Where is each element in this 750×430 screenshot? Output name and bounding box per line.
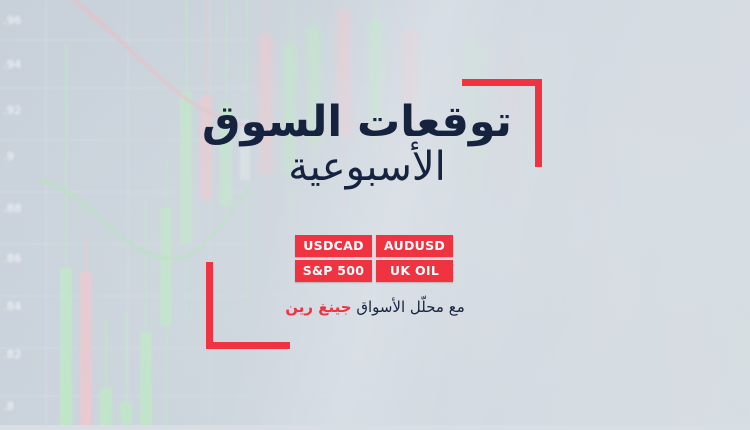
background-sheen	[0, 0, 750, 430]
bottom-left-bracket-horizontal	[206, 342, 290, 349]
analyst-name: جينغ رين	[285, 298, 351, 316]
bottom-edge-bar	[0, 425, 750, 430]
headline-block: توقعات السوق الأسبوعية	[0, 98, 750, 190]
axis-tick-5: .86	[3, 252, 22, 265]
analyst-credit: مع محلّل الأسواق جينغ رين	[0, 297, 750, 317]
badge-usdcad[interactable]: USDCAD	[295, 235, 372, 257]
chart-background	[0, 0, 750, 430]
price-axis: .96 .94 .92 .9 .88 .86 .84 .82 .8	[0, 0, 46, 430]
instrument-badge-group: USDCAD AUDUSD S&P 500 UK OIL	[295, 235, 453, 282]
axis-tick-7: .82	[3, 348, 22, 361]
headline-line-1: توقعات السوق	[0, 98, 750, 146]
axis-tick-4: .88	[3, 202, 22, 215]
axis-tick-1: .94	[3, 58, 22, 71]
badge-sp500[interactable]: S&P 500	[295, 260, 372, 282]
badge-audusd[interactable]: AUDUSD	[376, 235, 453, 257]
axis-tick-0: .96	[3, 14, 22, 27]
badge-ukoil[interactable]: UK OIL	[376, 260, 453, 282]
promo-banner: .96 .94 .92 .9 .88 .86 .84 .82 .8 توقعات…	[0, 0, 750, 430]
headline-line-2: الأسبوعية	[0, 144, 750, 190]
top-right-bracket-horizontal	[462, 79, 542, 86]
axis-tick-8: .8	[3, 400, 14, 413]
analyst-prefix: مع محلّل الأسواق	[356, 298, 464, 316]
